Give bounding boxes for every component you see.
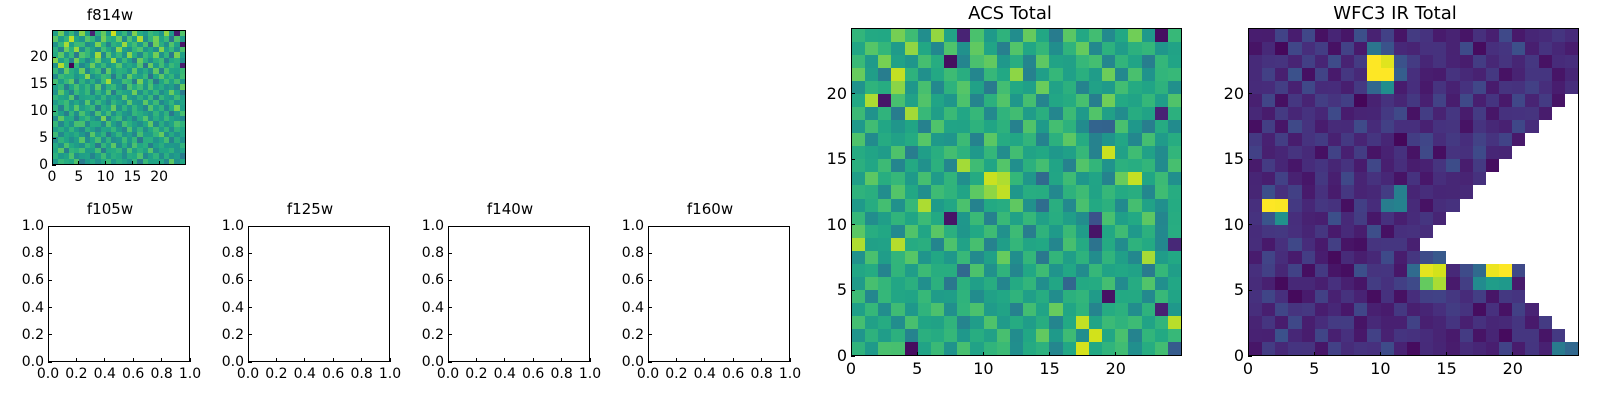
- x-tick-label: 1.0: [179, 367, 201, 381]
- panel-title-f125w: f125w: [200, 200, 420, 218]
- panel-title-f160w: f160w: [600, 200, 820, 218]
- y-tick-mark: [1248, 290, 1252, 291]
- x-tick-mark: [304, 358, 305, 362]
- y-tick-mark: [648, 253, 652, 254]
- x-tick-mark: [917, 352, 918, 356]
- x-tick-mark: [361, 358, 362, 362]
- panel-title-f814w: f814w: [0, 6, 220, 24]
- x-tick-mark: [133, 358, 134, 362]
- y-tick-mark: [448, 362, 452, 363]
- x-tick-mark: [733, 358, 734, 362]
- x-tick-mark: [161, 358, 162, 362]
- panel-title-f105w: f105w: [0, 200, 220, 218]
- y-tick-mark: [1248, 356, 1252, 357]
- x-tick-mark: [533, 358, 534, 362]
- y-tick-mark: [48, 280, 52, 281]
- x-tick-label: 15: [1039, 361, 1059, 377]
- y-tick-mark: [248, 334, 252, 335]
- y-tick-mark: [52, 138, 56, 139]
- y-tick-mark: [448, 226, 452, 227]
- y-tick-label: 0.0: [202, 355, 244, 369]
- x-tick-label: 15: [1436, 361, 1456, 377]
- x-tick-mark: [333, 358, 334, 362]
- x-tick-label: 0.6: [122, 367, 144, 381]
- x-tick-label: 15: [123, 170, 141, 184]
- y-tick-label: 15: [6, 77, 48, 91]
- y-tick-label: 10: [6, 104, 48, 118]
- y-tick-mark: [248, 226, 252, 227]
- x-tick-mark: [105, 161, 106, 165]
- y-tick-label: 1.0: [202, 219, 244, 233]
- y-tick-mark: [52, 57, 56, 58]
- y-tick-label: 1.0: [402, 219, 444, 233]
- y-tick-label: 0: [805, 348, 847, 364]
- y-tick-mark: [48, 253, 52, 254]
- panel-acs-total: ACS Total 0510152005101520: [800, 0, 1190, 400]
- x-tick-mark: [476, 358, 477, 362]
- y-tick-label: 0: [1202, 348, 1244, 364]
- axes-f125w[interactable]: [248, 226, 390, 362]
- y-tick-mark: [1248, 93, 1252, 94]
- x-tick-mark: [1314, 352, 1315, 356]
- x-tick-mark: [1512, 352, 1513, 356]
- panel-f105w: f105w 0.00.20.40.60.81.00.00.20.40.60.81…: [0, 190, 220, 400]
- y-tick-label: 0.0: [402, 355, 444, 369]
- y-tick-mark: [48, 226, 52, 227]
- x-tick-mark: [1049, 352, 1050, 356]
- panel-title-acs-total: ACS Total: [830, 3, 1190, 24]
- y-tick-label: 0.8: [602, 246, 644, 260]
- y-tick-mark: [648, 280, 652, 281]
- x-tick-mark: [1380, 352, 1381, 356]
- y-tick-mark: [52, 84, 56, 85]
- panel-f125w: f125w 0.00.20.40.60.81.00.00.20.40.60.81…: [200, 190, 420, 400]
- x-tick-label: 5: [74, 170, 83, 184]
- x-tick-label: 0.2: [665, 367, 687, 381]
- x-tick-label: 0: [1243, 361, 1253, 377]
- x-tick-mark: [190, 358, 191, 362]
- y-tick-mark: [248, 253, 252, 254]
- x-tick-label: 0: [48, 170, 57, 184]
- y-tick-label: 5: [1202, 282, 1244, 298]
- x-tick-label: 1.0: [379, 367, 401, 381]
- y-tick-label: 20: [1202, 86, 1244, 102]
- x-tick-label: 5: [1309, 361, 1319, 377]
- x-tick-mark: [761, 358, 762, 362]
- y-tick-label: 10: [805, 217, 847, 233]
- x-tick-label: 0.2: [265, 367, 287, 381]
- y-tick-mark: [48, 334, 52, 335]
- panel-f140w: f140w 0.00.20.40.60.81.00.00.20.40.60.81…: [400, 190, 620, 400]
- x-tick-label: 10: [973, 361, 993, 377]
- axes-f160w[interactable]: [648, 226, 790, 362]
- y-tick-mark: [851, 159, 855, 160]
- x-tick-label: 0: [846, 361, 856, 377]
- x-tick-mark: [790, 358, 791, 362]
- x-tick-label: 0.8: [350, 367, 372, 381]
- y-tick-mark: [1248, 159, 1252, 160]
- y-tick-mark: [648, 334, 652, 335]
- y-tick-mark: [248, 280, 252, 281]
- x-tick-mark: [561, 358, 562, 362]
- x-tick-label: 0.8: [750, 367, 772, 381]
- y-tick-label: 0.2: [2, 328, 44, 342]
- x-tick-label: 20: [1106, 361, 1126, 377]
- x-tick-mark: [1446, 352, 1447, 356]
- y-tick-label: 15: [1202, 151, 1244, 167]
- x-tick-label: 1.0: [779, 367, 801, 381]
- panel-f814w: f814w 0510152005101520: [0, 0, 220, 190]
- y-tick-label: 0.0: [602, 355, 644, 369]
- y-tick-label: 0.6: [202, 273, 244, 287]
- y-tick-mark: [648, 226, 652, 227]
- y-tick-label: 0.4: [2, 301, 44, 315]
- y-tick-label: 1.0: [2, 219, 44, 233]
- y-tick-label: 5: [6, 131, 48, 145]
- y-tick-label: 0.0: [2, 355, 44, 369]
- x-tick-label: 20: [150, 170, 168, 184]
- heatmap-acs-total: [852, 29, 1181, 355]
- y-tick-mark: [448, 280, 452, 281]
- x-tick-label: 0.8: [550, 367, 572, 381]
- y-tick-label: 0.6: [602, 273, 644, 287]
- x-tick-label: 0.2: [465, 367, 487, 381]
- x-tick-mark: [983, 352, 984, 356]
- axes-wfc3-ir-total[interactable]: [1248, 28, 1579, 356]
- panel-f160w: f160w 0.00.20.40.60.81.00.00.20.40.60.81…: [600, 190, 820, 400]
- y-tick-mark: [851, 290, 855, 291]
- y-tick-label: 15: [805, 151, 847, 167]
- y-tick-label: 0.8: [202, 246, 244, 260]
- y-tick-mark: [48, 362, 52, 363]
- x-tick-label: 5: [912, 361, 922, 377]
- y-tick-mark: [48, 307, 52, 308]
- x-tick-mark: [76, 358, 77, 362]
- x-tick-label: 20: [1503, 361, 1523, 377]
- y-tick-mark: [448, 307, 452, 308]
- y-tick-label: 0.6: [2, 273, 44, 287]
- y-tick-label: 0.4: [202, 301, 244, 315]
- x-tick-label: 0.4: [494, 367, 516, 381]
- y-tick-mark: [52, 111, 56, 112]
- y-tick-mark: [248, 362, 252, 363]
- x-tick-mark: [159, 161, 160, 165]
- y-tick-label: 1.0: [602, 219, 644, 233]
- panel-wfc3-ir-total: WFC3 IR Total 0510152005101520: [1190, 0, 1600, 400]
- axes-f105w[interactable]: [48, 226, 190, 362]
- x-tick-mark: [1115, 352, 1116, 356]
- y-tick-label: 0.8: [2, 246, 44, 260]
- y-tick-label: 20: [805, 86, 847, 102]
- figure-canvas: f814w 0510152005101520 f105w 0.00.20.40.…: [0, 0, 1600, 400]
- y-tick-label: 0.6: [402, 273, 444, 287]
- x-tick-label: 10: [1370, 361, 1390, 377]
- x-tick-mark: [504, 358, 505, 362]
- heatmap-f814w: [53, 31, 185, 164]
- x-tick-label: 10: [97, 170, 115, 184]
- y-tick-mark: [248, 307, 252, 308]
- x-tick-label: 0.6: [322, 367, 344, 381]
- x-tick-mark: [104, 358, 105, 362]
- x-tick-label: 0.6: [722, 367, 744, 381]
- x-tick-label: 0.4: [294, 367, 316, 381]
- y-tick-label: 0.2: [402, 328, 444, 342]
- x-tick-label: 0.4: [94, 367, 116, 381]
- y-tick-mark: [448, 334, 452, 335]
- x-tick-mark: [676, 358, 677, 362]
- y-tick-mark: [648, 307, 652, 308]
- y-tick-label: 0.8: [402, 246, 444, 260]
- x-tick-label: 0.2: [65, 367, 87, 381]
- y-tick-label: 5: [805, 282, 847, 298]
- y-tick-label: 20: [6, 50, 48, 64]
- heatmap-wfc3-ir-total: [1249, 29, 1578, 355]
- y-tick-mark: [851, 224, 855, 225]
- axes-f140w[interactable]: [448, 226, 590, 362]
- y-tick-label: 0.4: [602, 301, 644, 315]
- x-tick-mark: [390, 358, 391, 362]
- y-tick-label: 0.2: [602, 328, 644, 342]
- y-tick-label: 0.2: [202, 328, 244, 342]
- panel-title-f140w: f140w: [400, 200, 620, 218]
- x-tick-mark: [276, 358, 277, 362]
- y-tick-mark: [648, 362, 652, 363]
- y-tick-label: 0: [6, 158, 48, 172]
- y-tick-mark: [52, 165, 56, 166]
- x-tick-label: 0.6: [522, 367, 544, 381]
- x-tick-mark: [704, 358, 705, 362]
- panel-title-wfc3-ir-total: WFC3 IR Total: [1210, 3, 1580, 24]
- y-tick-mark: [448, 253, 452, 254]
- y-tick-label: 10: [1202, 217, 1244, 233]
- x-tick-label: 1.0: [579, 367, 601, 381]
- y-tick-label: 0.4: [402, 301, 444, 315]
- y-tick-mark: [851, 356, 855, 357]
- y-tick-mark: [851, 93, 855, 94]
- y-tick-mark: [1248, 224, 1252, 225]
- x-tick-mark: [132, 161, 133, 165]
- x-tick-label: 0.4: [694, 367, 716, 381]
- x-tick-label: 0.8: [150, 367, 172, 381]
- axes-acs-total[interactable]: [851, 28, 1182, 356]
- x-tick-mark: [78, 161, 79, 165]
- x-tick-mark: [590, 358, 591, 362]
- axes-f814w[interactable]: [52, 30, 186, 165]
